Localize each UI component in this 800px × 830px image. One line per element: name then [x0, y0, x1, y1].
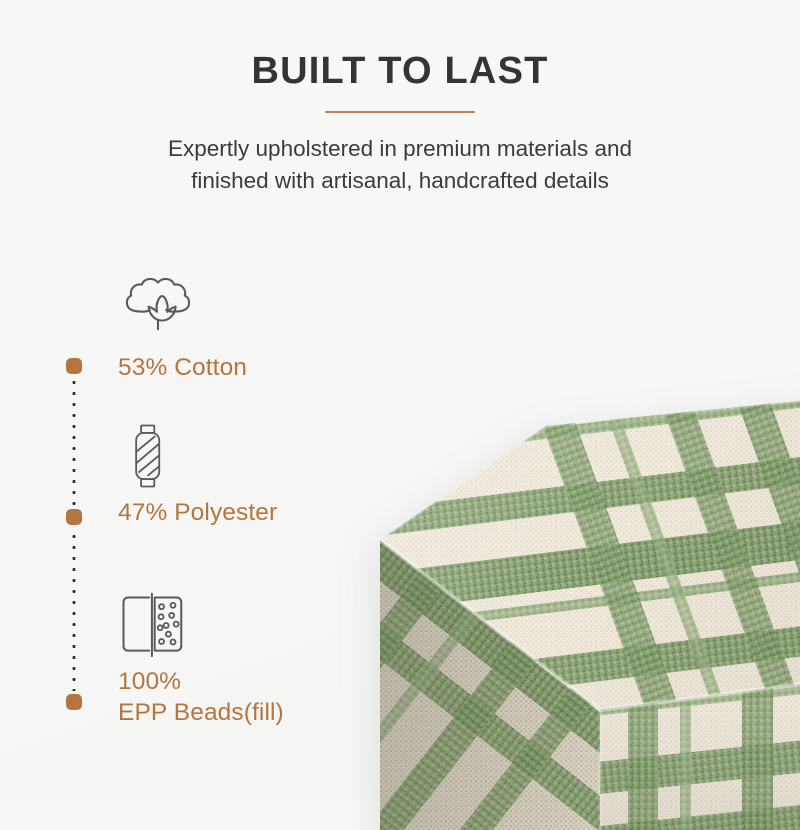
- cushion-fill-beads-icon: [118, 592, 197, 658]
- title-divider: [325, 111, 475, 113]
- feature-label-polyester: 47% Polyester: [118, 497, 277, 528]
- cotton-boll-icon: [118, 272, 198, 344]
- timeline-node-epp-beads: [66, 694, 82, 710]
- thread-spool-icon: [118, 423, 177, 489]
- materials-timeline: 53% Cotton 47% Polyester: [0, 0, 300, 800]
- feature-item-cotton: 53% Cotton: [118, 272, 247, 383]
- square-woven-pouf-image: [350, 240, 800, 830]
- timeline-node-cotton: [66, 358, 82, 374]
- feature-item-epp-beads: 100% EPP Beads(fill): [118, 592, 284, 729]
- product-image-region: [300, 210, 800, 830]
- feature-item-polyester: 47% Polyester: [118, 423, 277, 528]
- timeline-dotted-rail: [71, 366, 77, 702]
- timeline-node-polyester: [66, 509, 82, 525]
- feature-label-epp-beads: 100% EPP Beads(fill): [118, 666, 284, 729]
- infographic-canvas: BUILT TO LAST Expertly upholstered in pr…: [0, 0, 800, 800]
- feature-label-cotton: 53% Cotton: [118, 352, 247, 383]
